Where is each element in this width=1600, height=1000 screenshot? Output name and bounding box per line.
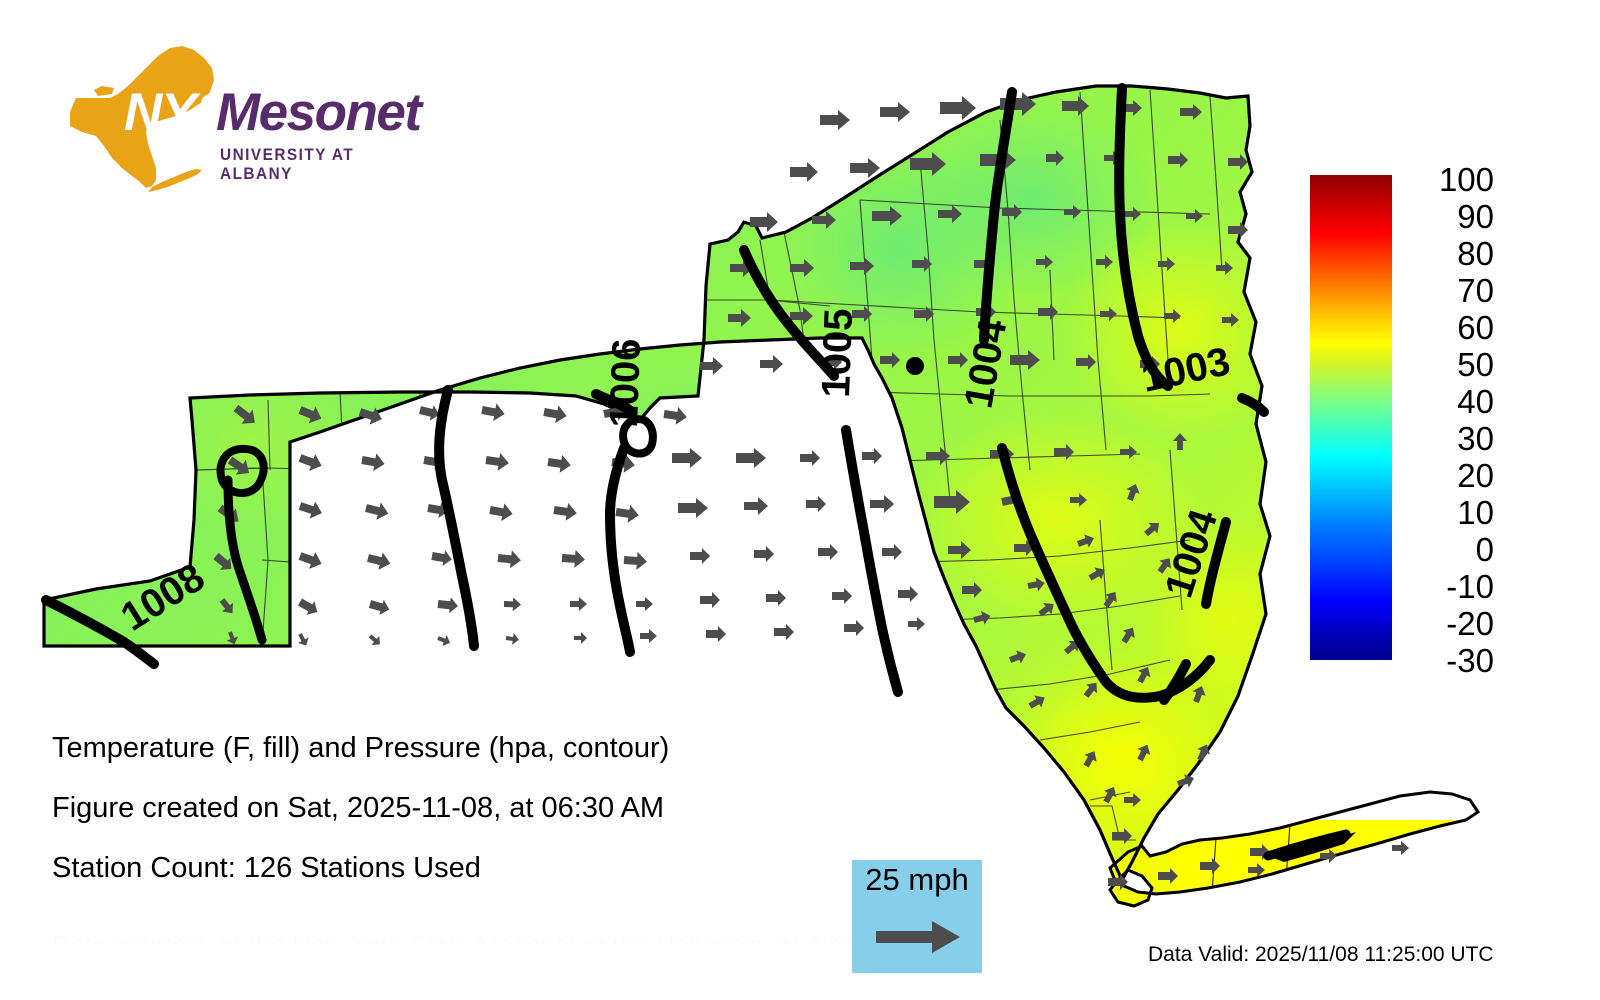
colorbar-tick: -20	[1406, 607, 1494, 640]
colorbar-tick: 30	[1406, 422, 1494, 455]
logo-wordmark: NYS Mesonet UNIVERSITY AT ALBANY	[124, 86, 414, 186]
contour-1005b	[846, 430, 898, 692]
caption-title: Temperature (F, fill) and Pressure (hpa,…	[52, 718, 872, 778]
colorbar-tick: 10	[1406, 496, 1494, 529]
contour-1006	[610, 448, 630, 652]
colorbar-tick: 70	[1406, 274, 1494, 307]
colorbar-tick: 50	[1406, 348, 1494, 381]
colorbar-tick: -30	[1406, 644, 1494, 677]
contour-label-1006: 1006	[602, 338, 649, 428]
colorbar-tick: 100	[1406, 163, 1494, 196]
caption-attribution-clipped: Data courtesy of the New York State Meso…	[52, 930, 1252, 944]
wind-scale-arrow-icon	[874, 920, 964, 954]
colorbar-tick: 40	[1406, 385, 1494, 418]
temperature-colorbar: 100 90 80 70 60 50 40 30 20 10 0 -10 -20…	[1310, 175, 1580, 670]
colorbar-tick-labels: 100 90 80 70 60 50 40 30 20 10 0 -10 -20…	[1406, 163, 1556, 673]
colorbar-tick: 80	[1406, 237, 1494, 270]
wind-scale-label: 25 mph	[852, 862, 982, 898]
colorbar-gradient	[1310, 175, 1392, 660]
logo-mesonet-text: Mesonet	[216, 86, 420, 139]
wind-scale-legend: 25 mph	[852, 860, 982, 973]
colorbar-tick: 90	[1406, 200, 1494, 233]
colorbar-tick: -10	[1406, 570, 1494, 603]
colorbar-tick: 20	[1406, 459, 1494, 492]
nys-mesonet-logo: NYS Mesonet UNIVERSITY AT ALBANY	[52, 40, 412, 200]
logo-subtitle-text: UNIVERSITY AT ALBANY	[220, 146, 400, 184]
colorbar-tick: 60	[1406, 311, 1494, 344]
contour-label-1005: 1005	[814, 308, 861, 398]
figure-caption: Temperature (F, fill) and Pressure (hpa,…	[52, 718, 872, 898]
caption-created: Figure created on Sat, 2025-11-08, at 06…	[52, 778, 872, 838]
logo-nys-text: NYS	[124, 86, 230, 139]
caption-station-count: Station Count: 126 Stations Used	[52, 838, 872, 898]
data-valid-timestamp: Data Valid: 2025/11/08 11:25:00 UTC	[1148, 943, 1494, 967]
colorbar-tick: 0	[1406, 533, 1494, 566]
